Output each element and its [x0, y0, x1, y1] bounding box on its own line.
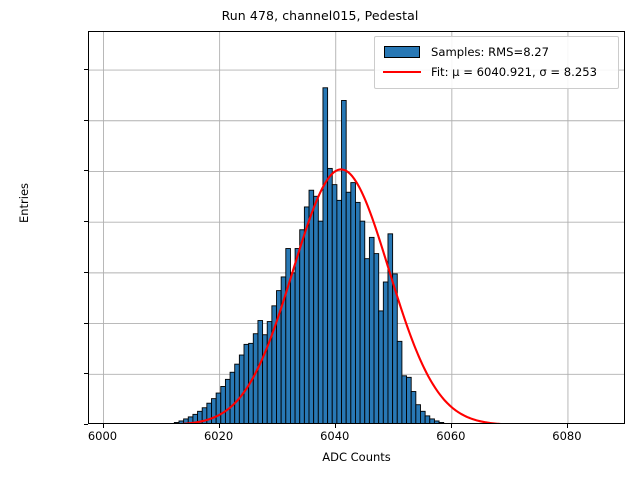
histogram-bar [304, 207, 309, 424]
histogram-bar [369, 237, 374, 424]
histogram-bar [374, 254, 379, 424]
histogram-bar [258, 321, 263, 424]
histogram-bar [211, 399, 216, 424]
histogram-bar [397, 341, 402, 424]
histogram-bar [416, 405, 421, 424]
x-tick-mark [451, 424, 452, 428]
legend-line-icon [382, 65, 422, 79]
y-axis-label: Entries [17, 103, 31, 303]
x-tick-mark [103, 424, 104, 428]
histogram-bar [355, 202, 360, 424]
histogram-bar [230, 372, 235, 424]
histogram-bar [290, 273, 295, 424]
histogram-bar [430, 419, 435, 424]
y-tick-mark [84, 272, 88, 273]
histogram-bar [323, 88, 328, 424]
histogram-bar [174, 422, 179, 424]
histogram-bar [379, 311, 384, 424]
plot-area [88, 31, 625, 424]
histogram-bar [444, 423, 449, 424]
histogram-bars [174, 88, 448, 424]
x-tick-label: 6040 [320, 429, 349, 443]
y-tick-mark [84, 221, 88, 222]
legend-label-fit: Fit: μ = 6040.921, σ = 8.253 [431, 65, 597, 79]
page-title: Run 478, channel015, Pedestal [0, 8, 640, 23]
histogram-bar [216, 393, 221, 424]
legend-patch-icon [382, 45, 422, 59]
figure-canvas: Run 478, channel015, Pedestal 0100002000… [0, 0, 640, 480]
histogram-bar [383, 282, 388, 424]
plot-svg [89, 32, 625, 424]
histogram-bar [402, 376, 407, 424]
x-tick-mark [567, 424, 568, 428]
histogram-bar [221, 386, 226, 424]
histogram-bar [328, 168, 333, 424]
histogram-bar [365, 259, 370, 424]
histogram-bar [411, 392, 416, 424]
x-tick-mark [219, 424, 220, 428]
x-tick-label: 6020 [204, 429, 233, 443]
histogram-bar [295, 249, 300, 424]
histogram-bar [286, 249, 291, 424]
histogram-bar [314, 196, 319, 424]
histogram-bar [337, 200, 342, 424]
legend: Samples: RMS=8.27 Fit: μ = 6040.921, σ =… [374, 36, 619, 89]
y-tick-mark [84, 120, 88, 121]
histogram-bar [439, 422, 444, 424]
x-axis-label: ADC Counts [88, 450, 625, 464]
histogram-bar [420, 411, 425, 424]
histogram-bar [388, 234, 393, 424]
histogram-bar [434, 421, 439, 424]
histogram-bar [207, 403, 212, 424]
histogram-bar [184, 419, 189, 424]
histogram-bar [300, 230, 305, 424]
y-tick-mark [84, 424, 88, 425]
histogram-bar [179, 421, 184, 424]
histogram-bar [244, 344, 249, 424]
x-tick-label: 6060 [436, 429, 465, 443]
histogram-bar [407, 377, 412, 424]
y-tick-mark [84, 323, 88, 324]
y-tick-mark [84, 69, 88, 70]
legend-label-samples: Samples: RMS=8.27 [431, 45, 549, 59]
histogram-bar [318, 221, 323, 424]
legend-item-samples: Samples: RMS=8.27 [382, 42, 611, 62]
y-tick-mark [84, 373, 88, 374]
histogram-bar [253, 334, 258, 424]
histogram-bar [225, 379, 230, 424]
histogram-bar [239, 355, 244, 424]
histogram-bar [360, 221, 365, 424]
x-tick-label: 6000 [88, 429, 117, 443]
histogram-bar [309, 190, 314, 424]
histogram-bar [235, 364, 240, 424]
x-tick-mark [335, 424, 336, 428]
x-tick-label: 6080 [552, 429, 581, 443]
y-tick-mark [84, 170, 88, 171]
histogram-bar [342, 100, 347, 424]
histogram-bar [346, 192, 351, 424]
histogram-bar [332, 185, 337, 424]
histogram-bar [351, 183, 356, 424]
histogram-bar [425, 416, 430, 424]
legend-item-fit: Fit: μ = 6040.921, σ = 8.253 [382, 62, 611, 82]
